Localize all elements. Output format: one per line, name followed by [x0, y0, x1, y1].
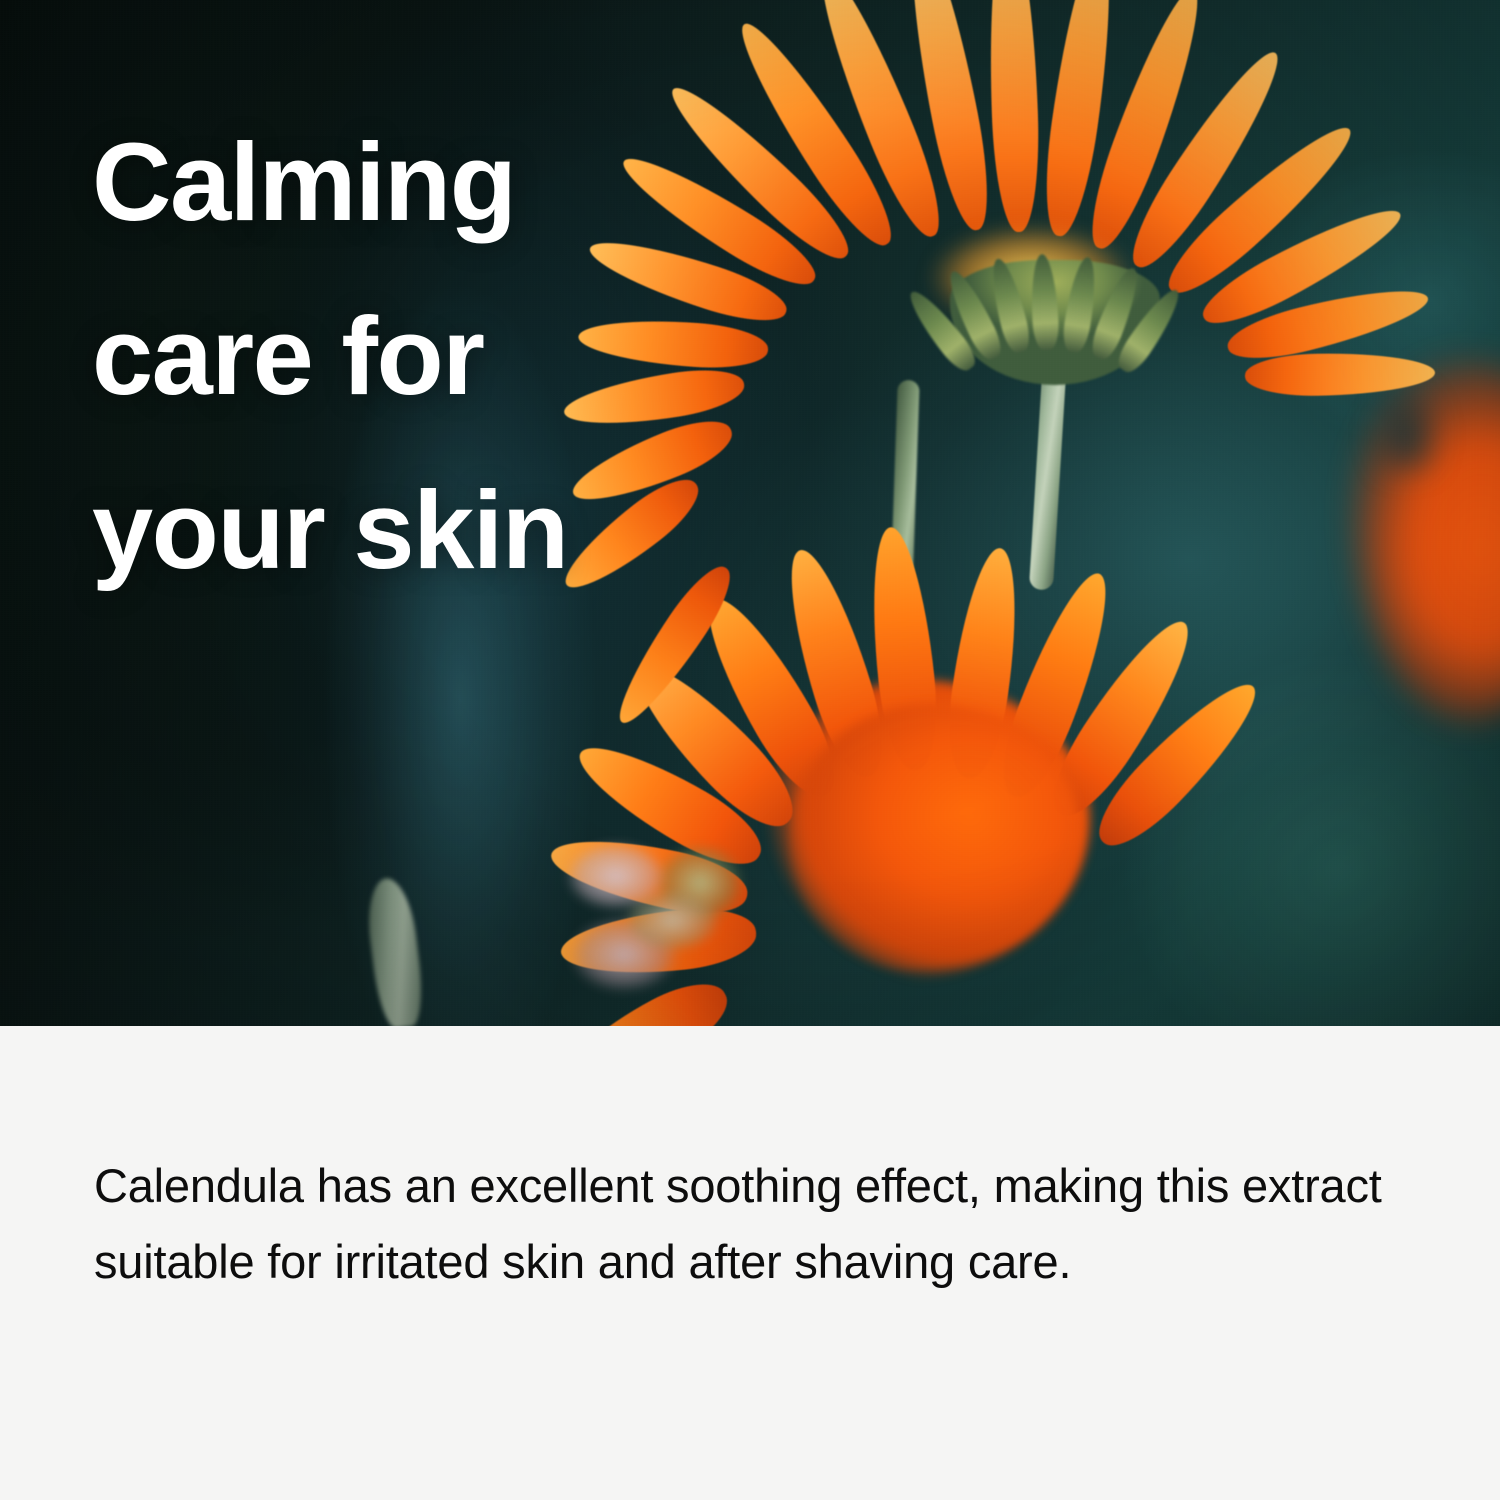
- hero-image: Calming care for your skin: [0, 0, 1500, 1026]
- page-title: Calming care for your skin: [92, 96, 732, 617]
- product-ingredient-card: Calming care for your skin Calendula has…: [0, 0, 1500, 1500]
- description-text: Calendula has an excellent soothing effe…: [94, 1148, 1394, 1300]
- description-panel: Calendula has an excellent soothing effe…: [0, 1026, 1500, 1500]
